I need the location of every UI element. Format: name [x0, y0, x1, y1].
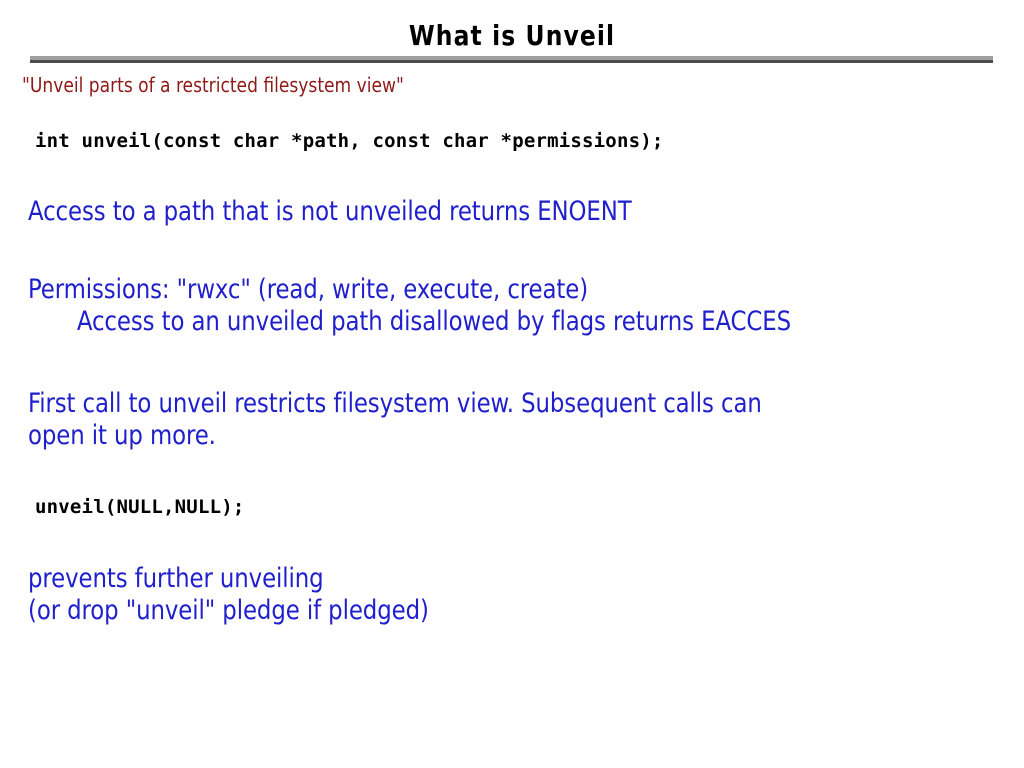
enoent-line-1: Access to a path that is not unveiled re… [28, 196, 632, 228]
permissions-line-2: Access to an unveiled path disallowed by… [28, 306, 791, 338]
permissions-line-1: Permissions: "rwxc" (read, write, execut… [28, 274, 791, 306]
subtitle-quote: "Unveil parts of a restricted filesystem… [22, 74, 404, 96]
block-permissions: Permissions: "rwxc" (read, write, execut… [28, 274, 791, 338]
block-first-call: First call to unveil restricts filesyste… [28, 388, 762, 452]
slide: What is Unveil "Unveil parts of a restri… [0, 0, 1024, 768]
first-call-line-2: open it up more. [28, 420, 762, 452]
block-prevents: prevents further unveiling (or drop "unv… [28, 563, 429, 627]
divider-shadow-band [30, 60, 993, 63]
first-call-line-1: First call to unveil restricts filesyste… [28, 388, 762, 420]
code-unveil-signature: int unveil(const char *path, const char … [35, 131, 664, 152]
page-title: What is Unveil [36, 22, 988, 50]
title-divider [30, 56, 993, 63]
prevents-line-2: (or drop "unveil" pledge if pledged) [28, 595, 429, 627]
block-enoent: Access to a path that is not unveiled re… [28, 196, 632, 228]
code-unveil-null-call: unveil(NULL,NULL); [35, 497, 245, 518]
prevents-line-1: prevents further unveiling [28, 563, 429, 595]
